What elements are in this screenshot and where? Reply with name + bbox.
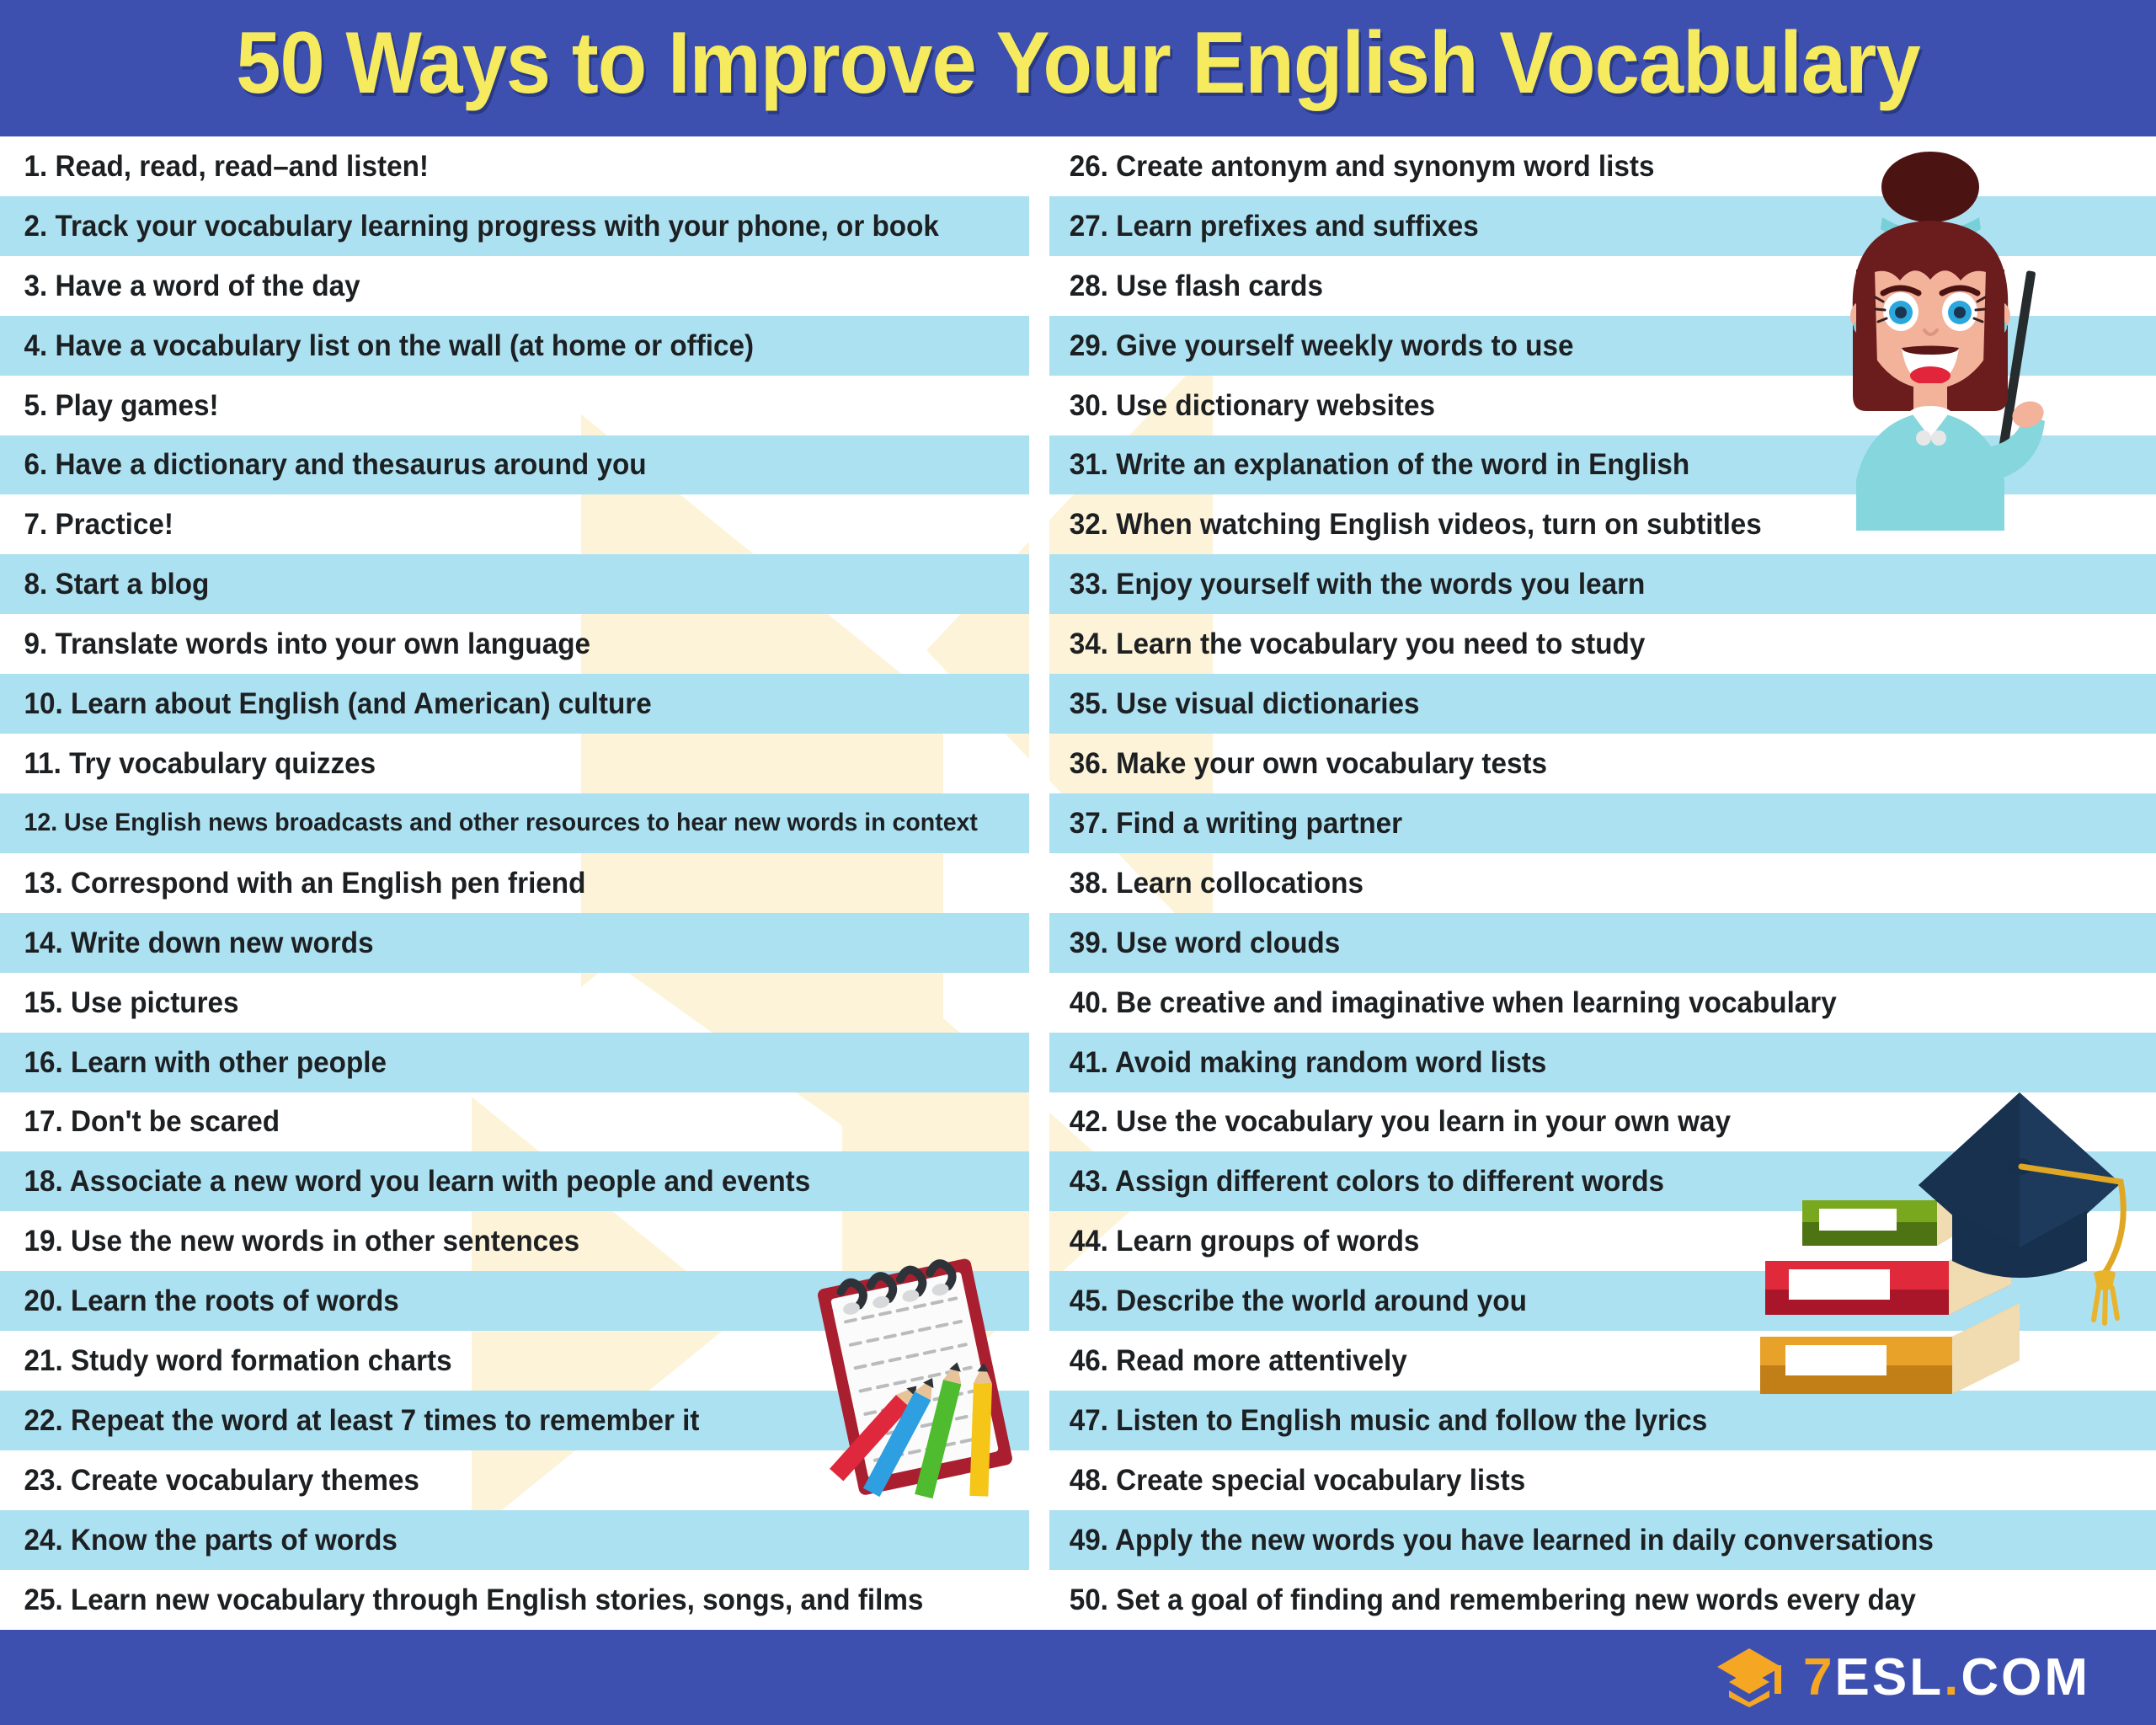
list-item: 50. Set a goal of finding and rememberin… (1049, 1570, 2156, 1630)
list-item-text: 17. Don't be scared (0, 1107, 280, 1136)
list-item: 48. Create special vocabulary lists (1049, 1450, 2156, 1510)
header-bar: 50 Ways to Improve Your English Vocabula… (0, 0, 2156, 136)
list-item-text: 7. Practice! (0, 510, 173, 539)
list-item-text: 37. Find a writing partner (1049, 809, 1402, 838)
logo-dot: . (1944, 1648, 1961, 1706)
list-item: 14. Write down new words (0, 913, 1029, 973)
list-item-text: 24. Know the parts of words (0, 1525, 398, 1555)
list-item-text: 3. Have a word of the day (0, 271, 360, 301)
list-item-text: 19. Use the new words in other sentences (0, 1226, 579, 1256)
list-item: 33. Enjoy yourself with the words you le… (1049, 554, 2156, 614)
list-item: 2. Track your vocabulary learning progre… (0, 196, 1029, 256)
list-item: 4. Have a vocabulary list on the wall (a… (0, 316, 1029, 376)
list-item: 35. Use visual dictionaries (1049, 674, 2156, 734)
list-item-text: 44. Learn groups of words (1049, 1226, 1419, 1256)
page-title: 50 Ways to Improve Your English Vocabula… (86, 0, 2069, 126)
list-item-text: 49. Apply the new words you have learned… (1049, 1525, 1934, 1555)
list-item: 38. Learn collocations (1049, 853, 2156, 913)
list-item-text: 33. Enjoy yourself with the words you le… (1049, 569, 1645, 599)
list-item: 8. Start a blog (0, 554, 1029, 614)
list-item-text: 28. Use flash cards (1049, 271, 1323, 301)
list-item-text: 27. Learn prefixes and suffixes (1049, 211, 1479, 241)
list-item-text: 11. Try vocabulary quizzes (0, 749, 376, 778)
list-item-text: 12. Use English news broadcasts and othe… (0, 810, 978, 836)
list-item-text: 40. Be creative and imaginative when lea… (1049, 988, 1837, 1017)
logo-com: COM (1961, 1648, 2090, 1706)
notepad-with-pencils-icon (808, 1247, 1053, 1525)
list-item-text: 29. Give yourself weekly words to use (1049, 331, 1573, 360)
list-item-text: 43. Assign different colors to different… (1049, 1167, 1664, 1196)
list-item: 40. Be creative and imaginative when lea… (1049, 973, 2156, 1033)
list-item-text: 39. Use word clouds (1049, 928, 1340, 958)
list-item-text: 22. Repeat the word at least 7 times to … (0, 1406, 699, 1435)
list-item: 6. Have a dictionary and thesaurus aroun… (0, 435, 1029, 495)
list-item-text: 41. Avoid making random word lists (1049, 1048, 1546, 1077)
list-item: 15. Use pictures (0, 973, 1029, 1033)
list-item-text: 47. Listen to English music and follow t… (1049, 1406, 1707, 1435)
list-item-text: 23. Create vocabulary themes (0, 1466, 419, 1495)
list-item-text: 48. Create special vocabulary lists (1049, 1466, 1525, 1495)
books-illustration (1742, 1082, 2137, 1436)
list-item-text: 31. Write an explanation of the word in … (1049, 450, 1689, 479)
list-item: 25. Learn new vocabulary through English… (0, 1570, 1029, 1630)
books-with-graduation-cap-icon (1742, 1082, 2137, 1436)
list-item-text: 34. Learn the vocabulary you need to stu… (1049, 629, 1645, 659)
list-item-text: 46. Read more attentively (1049, 1346, 1407, 1375)
list-item: 7. Practice! (0, 494, 1029, 554)
list-item-text: 20. Learn the roots of words (0, 1286, 399, 1316)
list-item: 37. Find a writing partner (1049, 793, 2156, 853)
list-item-text: 45. Describe the world around you (1049, 1286, 1527, 1316)
list-item-text: 32. When watching English videos, turn o… (1049, 510, 1762, 539)
list-item: 9. Translate words into your own languag… (0, 614, 1029, 674)
list-item-text: 10. Learn about English (and American) c… (0, 689, 652, 718)
logo-seven: 7 (1803, 1648, 1834, 1706)
list-item: 3. Have a word of the day (0, 256, 1029, 316)
list-item-text: 18. Associate a new word you learn with … (0, 1167, 810, 1196)
list-item: 1. Read, read, read–and listen! (0, 136, 1029, 196)
list-item: 49. Apply the new words you have learned… (1049, 1510, 2156, 1570)
teacher-illustration (1802, 143, 2080, 531)
list-item: 12. Use English news broadcasts and othe… (0, 793, 1029, 853)
notepad-illustration (808, 1247, 1053, 1525)
list-item: 17. Don't be scared (0, 1092, 1029, 1152)
list-item-text: 50. Set a goal of finding and rememberin… (1049, 1585, 1916, 1615)
list-item: 16. Learn with other people (0, 1033, 1029, 1092)
list-item-text: 14. Write down new words (0, 928, 374, 958)
list-item: 5. Play games! (0, 376, 1029, 435)
site-logo[interactable]: 7ESL.COM (1714, 1645, 2090, 1711)
footer-bar: 7ESL.COM (0, 1630, 2156, 1725)
list-item-text: 4. Have a vocabulary list on the wall (a… (0, 331, 754, 360)
list-item: 34. Learn the vocabulary you need to stu… (1049, 614, 2156, 674)
list-item-text: 25. Learn new vocabulary through English… (0, 1585, 923, 1615)
list-item-text: 42. Use the vocabulary you learn in your… (1049, 1107, 1731, 1136)
list-item-text: 16. Learn with other people (0, 1048, 387, 1077)
list-item-text: 21. Study word formation charts (0, 1346, 452, 1375)
logo-esl: ESL (1835, 1648, 1945, 1706)
list-item-text: 36. Make your own vocabulary tests (1049, 749, 1547, 778)
list-item-text: 13. Correspond with an English pen frien… (0, 868, 585, 898)
list-item-text: 1. Read, read, read–and listen! (0, 152, 429, 181)
list-item-text: 6. Have a dictionary and thesaurus aroun… (0, 450, 647, 479)
list-item-text: 38. Learn collocations (1049, 868, 1364, 898)
logo-wordmark: 7ESL.COM (1803, 1652, 2090, 1704)
list-item-text: 5. Play games! (0, 391, 219, 420)
list-item: 36. Make your own vocabulary tests (1049, 734, 2156, 793)
list-item: 10. Learn about English (and American) c… (0, 674, 1029, 734)
list-item-text: 30. Use dictionary websites (1049, 391, 1435, 420)
infographic-poster: 50 Ways to Improve Your English Vocabula… (0, 0, 2156, 1725)
list-item-text: 2. Track your vocabulary learning progre… (0, 211, 939, 241)
graduation-cap-logo-icon (1714, 1645, 1785, 1711)
list-item: 18. Associate a new word you learn with … (0, 1151, 1029, 1211)
list-item-text: 15. Use pictures (0, 988, 239, 1017)
list-item-text: 35. Use visual dictionaries (1049, 689, 1420, 718)
list-item-text: 8. Start a blog (0, 569, 209, 599)
list-item: 39. Use word clouds (1049, 913, 2156, 973)
teacher-with-pointer-icon (1802, 143, 2080, 531)
list-item: 11. Try vocabulary quizzes (0, 734, 1029, 793)
list-item-text: 26. Create antonym and synonym word list… (1049, 152, 1654, 181)
list-item: 13. Correspond with an English pen frien… (0, 853, 1029, 913)
list-item-text: 9. Translate words into your own languag… (0, 629, 590, 659)
